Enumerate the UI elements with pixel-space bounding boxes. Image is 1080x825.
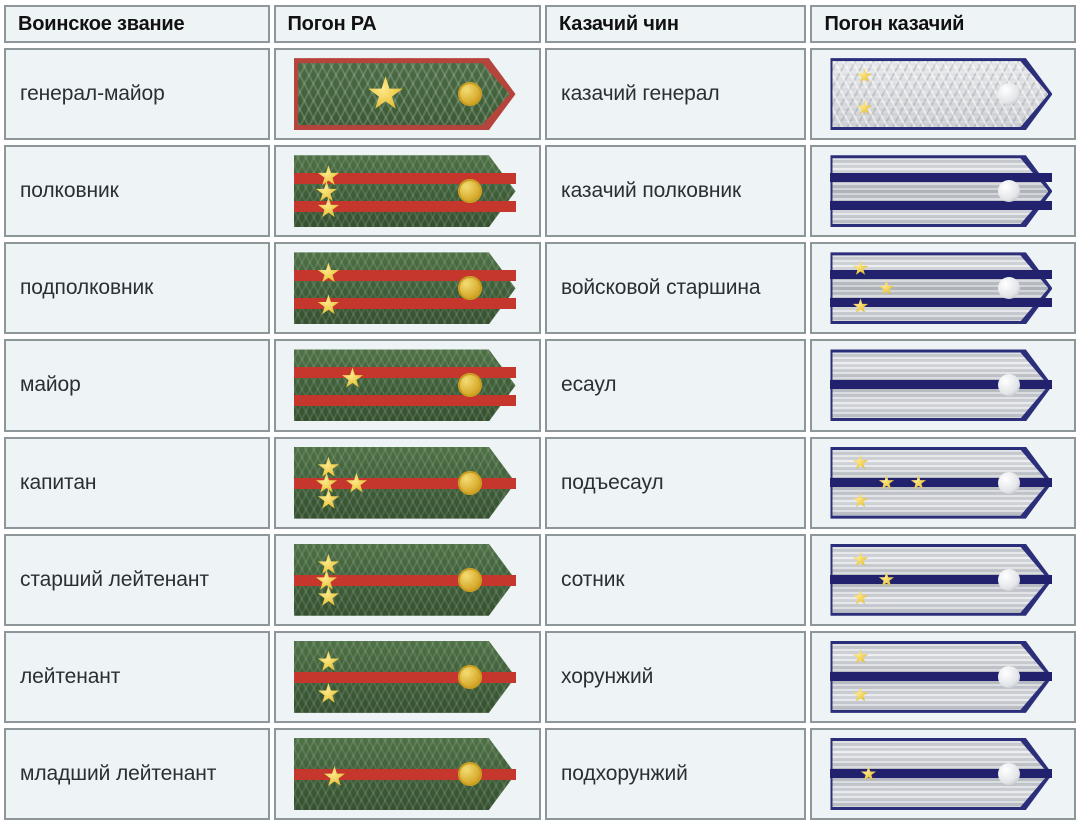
column-header-cossack-rank: Казачий чин <box>545 5 806 43</box>
army-rank-name: лейтенант <box>4 631 270 723</box>
cossack-board-cell <box>810 437 1076 529</box>
table-row: майоресаул <box>4 339 1076 431</box>
cossack-shoulder-board <box>830 641 1052 713</box>
cossack-rank-name: войсковой старшина <box>545 242 806 334</box>
army-shoulder-board <box>294 447 516 519</box>
table-row: подполковниквойсковой старшина <box>4 242 1076 334</box>
cossack-rank-name: казачий полковник <box>545 145 806 237</box>
table-row: капитанподъесаул <box>4 437 1076 529</box>
column-header-army-rank: Воинское звание <box>4 5 270 43</box>
army-rank-name: генерал-майор <box>4 48 270 140</box>
board-button-icon <box>458 179 482 203</box>
cossack-board-cell <box>810 242 1076 334</box>
table-body: генерал-майорказачий генералполковникказ… <box>4 48 1076 820</box>
army-board-cell <box>274 534 542 626</box>
board-stripe <box>830 201 1052 210</box>
cossack-board-cell <box>810 631 1076 723</box>
board-stripe <box>294 395 516 406</box>
army-shoulder-board <box>294 58 516 130</box>
army-shoulder-board <box>294 641 516 713</box>
cossack-rank-name: есаул <box>545 339 806 431</box>
board-button-icon <box>458 373 482 397</box>
army-shoulder-board <box>294 738 516 810</box>
army-rank-name: старший лейтенант <box>4 534 270 626</box>
board-stripe <box>294 367 516 378</box>
army-shoulder-board <box>294 544 516 616</box>
table-row: младший лейтенантподхорунжий <box>4 728 1076 820</box>
cossack-shoulder-board <box>830 155 1052 227</box>
table-row: старший лейтенантсотник <box>4 534 1076 626</box>
board-stripe <box>830 173 1052 182</box>
army-rank-name: подполковник <box>4 242 270 334</box>
army-shoulder-board <box>294 155 516 227</box>
column-header-army-board: Погон РА <box>274 5 542 43</box>
rank-comparison-table: Воинское звание Погон РА Казачий чин Пог… <box>0 0 1080 825</box>
army-board-cell <box>274 339 542 431</box>
cossack-rank-name: подхорунжий <box>545 728 806 820</box>
board-button-icon <box>458 82 482 106</box>
army-board-cell <box>274 242 542 334</box>
cossack-board-cell <box>810 339 1076 431</box>
table-row: лейтенантхорунжий <box>4 631 1076 723</box>
cossack-shoulder-board <box>830 738 1052 810</box>
army-board-cell <box>274 145 542 237</box>
cossack-rank-name: сотник <box>545 534 806 626</box>
board-field <box>294 252 516 324</box>
board-button-icon <box>998 472 1020 494</box>
board-button-icon <box>458 471 482 495</box>
cossack-board-cell <box>810 48 1076 140</box>
cossack-rank-name: хорунжий <box>545 631 806 723</box>
board-button-icon <box>458 762 482 786</box>
table-row: полковникказачий полковник <box>4 145 1076 237</box>
army-rank-name: капитан <box>4 437 270 529</box>
cossack-shoulder-board <box>830 544 1052 616</box>
cossack-board-cell <box>810 728 1076 820</box>
army-board-cell <box>274 437 542 529</box>
cossack-shoulder-board <box>830 58 1052 130</box>
army-board-cell <box>274 631 542 723</box>
cossack-shoulder-board <box>830 349 1052 421</box>
board-field <box>294 349 516 421</box>
cossack-rank-name: казачий генерал <box>545 48 806 140</box>
cossack-board-cell <box>810 145 1076 237</box>
army-rank-name: младший лейтенант <box>4 728 270 820</box>
cossack-board-cell <box>810 534 1076 626</box>
table-header: Воинское звание Погон РА Казачий чин Пог… <box>4 5 1076 43</box>
army-shoulder-board <box>294 252 516 324</box>
table-row: генерал-майорказачий генерал <box>4 48 1076 140</box>
cossack-rank-name: подъесаул <box>545 437 806 529</box>
cossack-shoulder-board <box>830 252 1052 324</box>
army-rank-name: полковник <box>4 145 270 237</box>
column-header-cossack-board: Погон казачий <box>810 5 1076 43</box>
board-button-icon <box>458 276 482 300</box>
army-board-cell <box>274 48 542 140</box>
board-button-icon <box>458 665 482 689</box>
army-rank-name: майор <box>4 339 270 431</box>
army-shoulder-board <box>294 349 516 421</box>
army-board-cell <box>274 728 542 820</box>
board-button-icon <box>458 568 482 592</box>
board-stripe <box>294 672 516 683</box>
cossack-shoulder-board <box>830 447 1052 519</box>
header-row: Воинское звание Погон РА Казачий чин Пог… <box>4 5 1076 43</box>
